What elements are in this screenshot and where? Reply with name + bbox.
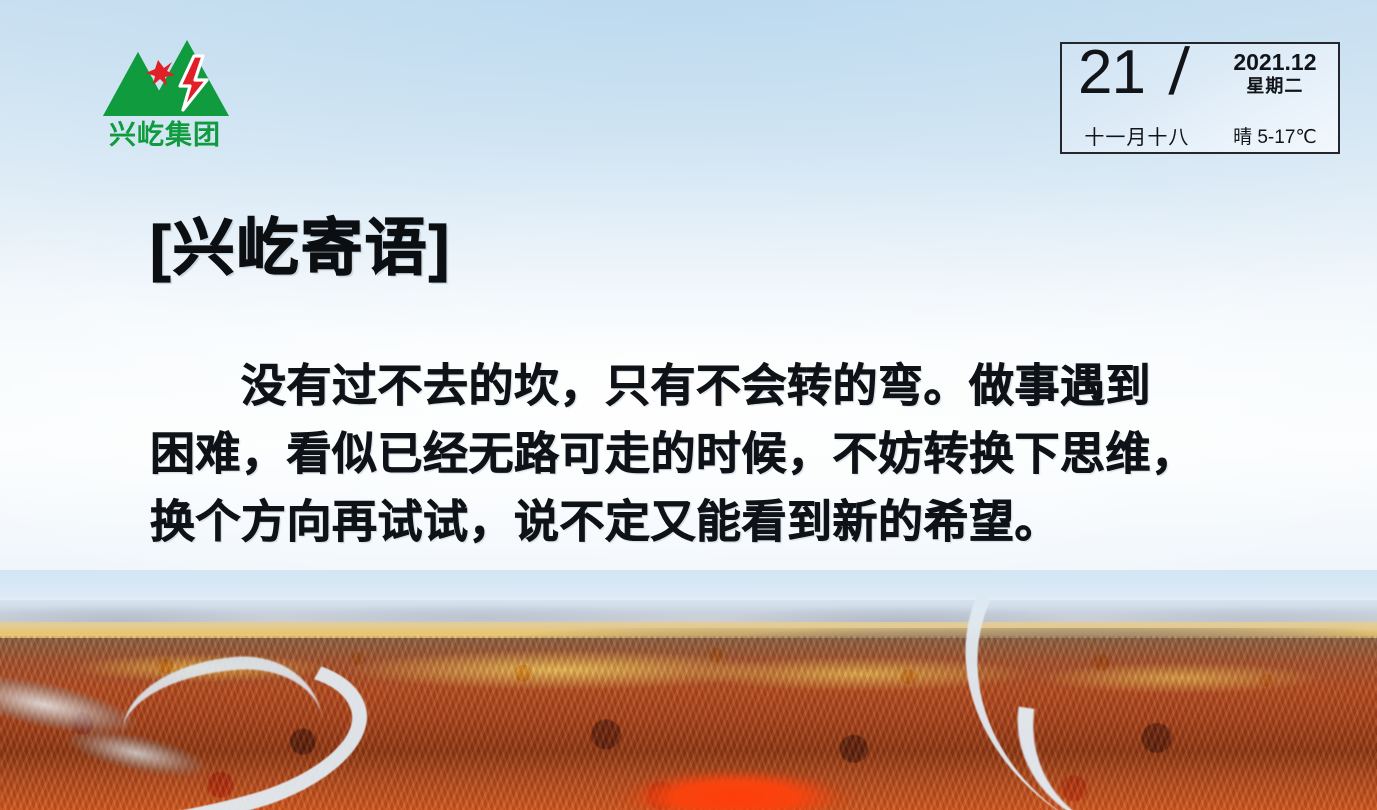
year-month-label: 2021.12 <box>1212 50 1338 75</box>
photo-top-blend <box>0 570 1377 610</box>
twin-mountain-logo-icon <box>95 38 235 126</box>
weather-label: 晴 5-17℃ <box>1212 122 1338 149</box>
slash-separator: / <box>1168 38 1191 104</box>
message-line: 换个方向再试试，说不定又能看到新的希望。 <box>150 488 1250 556</box>
day-number: 21 <box>1078 42 1145 104</box>
photo-red-foliage-patch <box>600 748 870 810</box>
poster-canvas: 兴屹集团 21 / 2021.12 星期二 十一月十八 晴 5-17℃ [兴屹寄… <box>0 0 1377 810</box>
autumn-valley-river-photo <box>0 570 1377 810</box>
date-card-top-row: 21 / 2021.12 星期二 <box>1062 44 1338 118</box>
date-card: 21 / 2021.12 星期二 十一月十八 晴 5-17℃ <box>1060 42 1340 154</box>
message-line: 困难，看似已经无路可走的时候，不妨转换下思维， <box>150 420 1250 488</box>
message-body: 没有过不去的坎，只有不会转的弯。做事遇到 困难，看似已经无路可走的时候，不妨转换… <box>150 352 1250 556</box>
page-title: [兴屹寄语] <box>150 218 451 280</box>
date-card-bottom-row: 十一月十八 晴 5-17℃ <box>1062 118 1338 152</box>
date-card-right-col: 2021.12 星期二 <box>1212 46 1338 98</box>
brand-logo[interactable]: 兴屹集团 <box>95 38 235 160</box>
message-line: 没有过不去的坎，只有不会转的弯。做事遇到 <box>150 352 1250 420</box>
day-number-wrap: 21 / <box>1062 46 1212 118</box>
lunar-date-label: 十一月十八 <box>1062 121 1212 150</box>
weekday-label: 星期二 <box>1212 75 1338 98</box>
brand-name-label: 兴屹集团 <box>95 122 235 149</box>
